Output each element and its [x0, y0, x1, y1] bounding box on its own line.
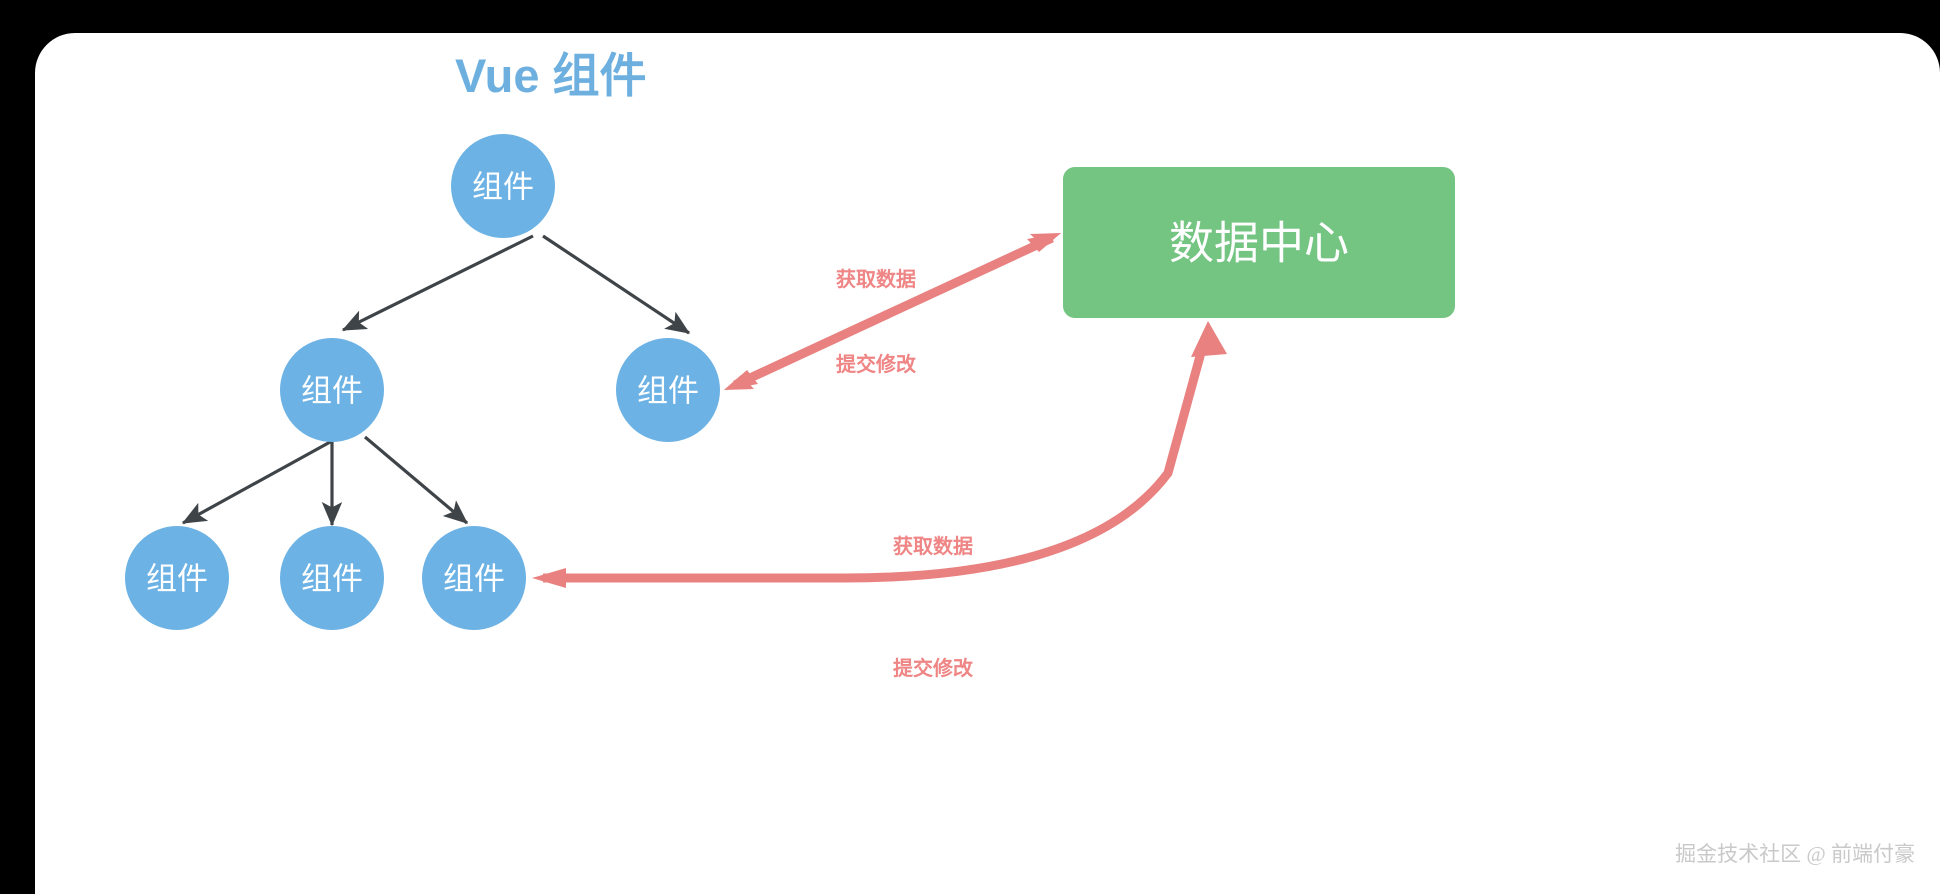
tree-node-l3-b[interactable]: 组件 — [280, 526, 384, 630]
tree-node-l2-right[interactable]: 组件 — [616, 338, 720, 442]
tree-edge-group — [183, 236, 689, 525]
tree-edge-root-to-left — [343, 236, 533, 330]
diagram-canvas: Vue 组件 数据中心 — [35, 33, 1940, 894]
tree-node-l3-c[interactable]: 组件 — [422, 526, 526, 630]
component-node-label: 组件 — [146, 562, 208, 597]
data-center-node[interactable]: 数据中心 — [1063, 167, 1455, 318]
page-title: Vue 组件 — [455, 49, 647, 102]
component-node-label: 组件 — [301, 562, 363, 597]
flow-top-group: 获取数据 提交修改 — [724, 233, 1061, 390]
diagram-panel: Vue 组件 数据中心 — [35, 33, 1940, 894]
tree-node-root[interactable]: 组件 — [451, 134, 555, 238]
component-node-label: 组件 — [472, 170, 534, 205]
tree-node-l2-left[interactable]: 组件 — [280, 338, 384, 442]
component-node-label: 组件 — [301, 374, 363, 409]
tree-edge-root-to-right — [543, 236, 689, 333]
flow-bottom-label-commit: 提交修改 — [893, 656, 974, 680]
screenshot-root: Vue 组件 数据中心 — [0, 0, 1940, 894]
component-node-label: 组件 — [637, 374, 699, 409]
tree-edge-left-to-c — [365, 437, 467, 523]
component-node-label: 组件 — [443, 562, 505, 597]
watermark: 掘金技术社区 @ 前端付豪 — [1675, 842, 1915, 866]
flow-top-label-commit: 提交修改 — [836, 352, 917, 376]
flow-bottom-arrowhead-hub — [1191, 321, 1227, 357]
flow-bottom-label-fetch: 获取数据 — [893, 534, 973, 558]
tree-edge-left-to-a — [183, 436, 341, 523]
data-center-label: 数据中心 — [1169, 218, 1349, 269]
flow-top-label-fetch: 获取数据 — [836, 267, 916, 291]
tree-node-l3-a[interactable]: 组件 — [125, 526, 229, 630]
flow-bottom-arrowhead-component — [532, 568, 566, 588]
